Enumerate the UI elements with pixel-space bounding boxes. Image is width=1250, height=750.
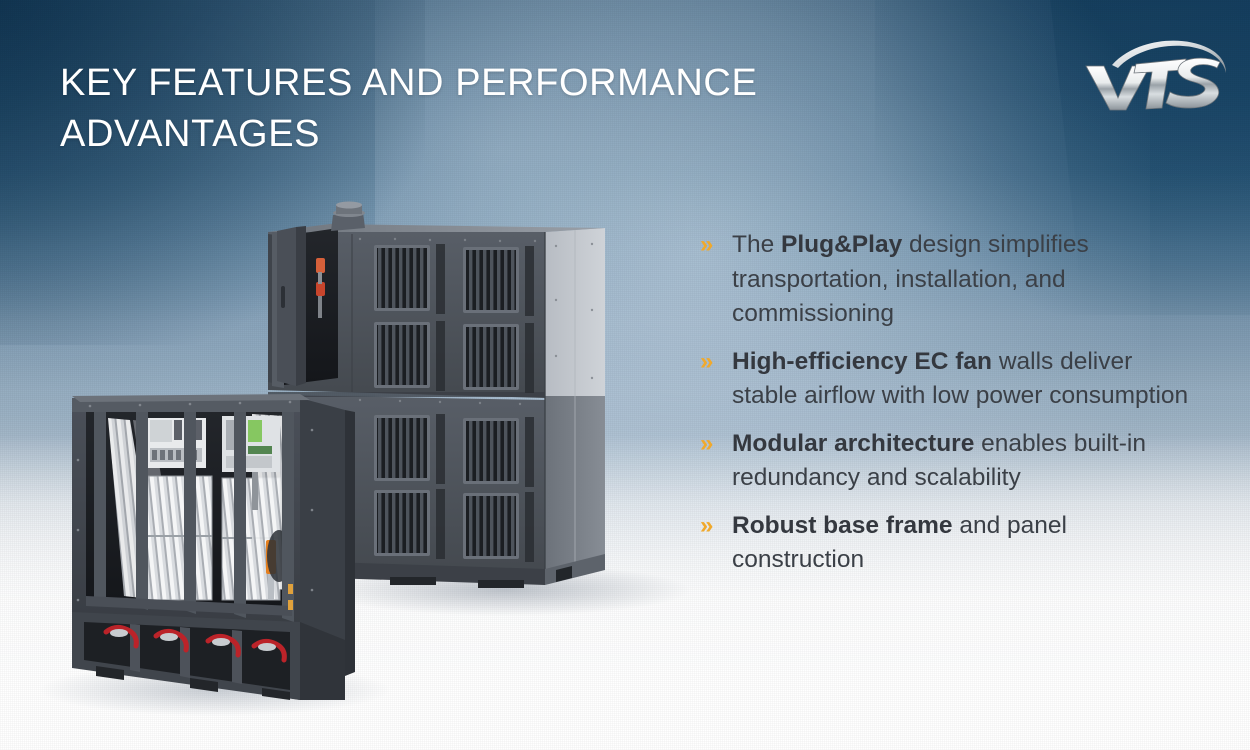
bullet-marker-icon: » bbox=[700, 345, 713, 380]
page-title: KEY FEATURES AND PERFORMANCE ADVANTAGES bbox=[60, 58, 840, 160]
bullet-2-bold: High-efficiency EC fan bbox=[732, 348, 992, 375]
bullet-marker-icon: » bbox=[700, 228, 713, 263]
feature-bullet-list: » The Plug&Play design simplifies transp… bbox=[700, 228, 1200, 578]
bullet-marker-icon: » bbox=[700, 427, 713, 462]
feature-bullet-1: » The Plug&Play design simplifies transp… bbox=[700, 228, 1200, 332]
feature-bullet-4: » Robust base frame and panel constructi… bbox=[700, 509, 1200, 578]
slide-canvas: KEY FEATURES AND PERFORMANCE ADVANTAGES bbox=[0, 0, 1250, 750]
bullet-1-bold: Plug&Play bbox=[781, 231, 902, 258]
bullet-4-bold: Robust base frame bbox=[732, 512, 953, 539]
feature-bullet-2: » High-efficiency EC fan walls deliver s… bbox=[700, 345, 1200, 414]
bullet-marker-icon: » bbox=[700, 509, 713, 544]
bullet-3-bold: Modular architecture bbox=[732, 430, 974, 457]
vts-logo[interactable]: VTS bbox=[1074, 32, 1234, 116]
bullet-1-lead: The bbox=[732, 231, 781, 258]
feature-bullet-3: » Modular architecture enables built-in … bbox=[700, 427, 1200, 496]
